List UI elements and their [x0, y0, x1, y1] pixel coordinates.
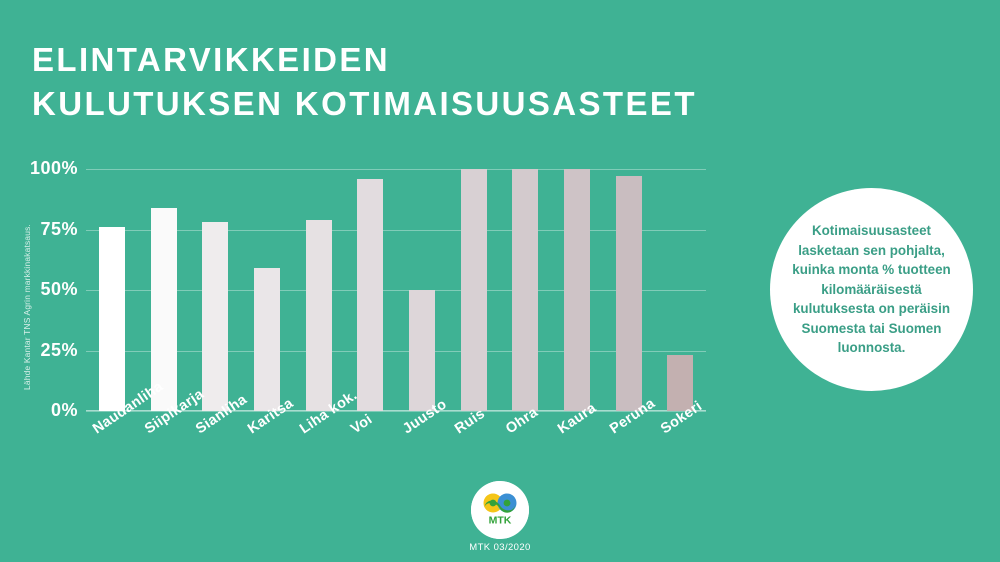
bar-naudanliha[interactable] — [99, 227, 125, 411]
bar-chart — [86, 169, 706, 411]
bar-series — [86, 169, 706, 411]
y-axis-tick-label: 0% — [51, 400, 78, 421]
bar-ruis[interactable] — [461, 169, 487, 411]
bar-fill — [409, 290, 435, 411]
bar-fill — [99, 227, 125, 411]
y-axis-tick-label: 100% — [30, 158, 78, 179]
bar-fill — [357, 179, 383, 411]
y-axis-tick-label: 75% — [40, 219, 78, 240]
bar-fill — [202, 222, 228, 411]
bar-juusto[interactable] — [409, 290, 435, 411]
logo-wordmark: MTK — [489, 515, 512, 527]
bar-peruna[interactable] — [616, 176, 642, 411]
infographic-canvas: Elintarvikkeiden kulutuksen kotimaisuusa… — [0, 0, 1000, 562]
mtk-logo: MTK — [471, 481, 529, 539]
bar-fill — [254, 268, 280, 411]
y-axis-tick-label: 50% — [40, 279, 78, 300]
bar-liha-kok[interactable] — [306, 220, 332, 411]
y-axis-tick-label: 25% — [40, 340, 78, 361]
page-title: Elintarvikkeiden kulutuksen kotimaisuusa… — [32, 38, 697, 125]
bar-fill — [306, 220, 332, 411]
bar-fill — [564, 169, 590, 411]
bar-kaura[interactable] — [564, 169, 590, 411]
footer-credit: MTK 03/2020 — [0, 542, 1000, 553]
bar-ohra[interactable] — [512, 169, 538, 411]
bar-fill — [461, 169, 487, 411]
bar-fill — [616, 176, 642, 411]
y-axis-labels: 100%75%50%25%0% — [0, 169, 78, 411]
bar-karitsa[interactable] — [254, 268, 280, 411]
bar-sianliha[interactable] — [202, 222, 228, 411]
callout-circle: Kotimaisuusasteet lasketaan sen pohjalta… — [770, 188, 973, 391]
callout-text: Kotimaisuusasteet lasketaan sen pohjalta… — [790, 221, 953, 357]
x-axis-tick-label: Voi — [348, 411, 376, 437]
bar-fill — [512, 169, 538, 411]
bar-voi[interactable] — [357, 179, 383, 411]
